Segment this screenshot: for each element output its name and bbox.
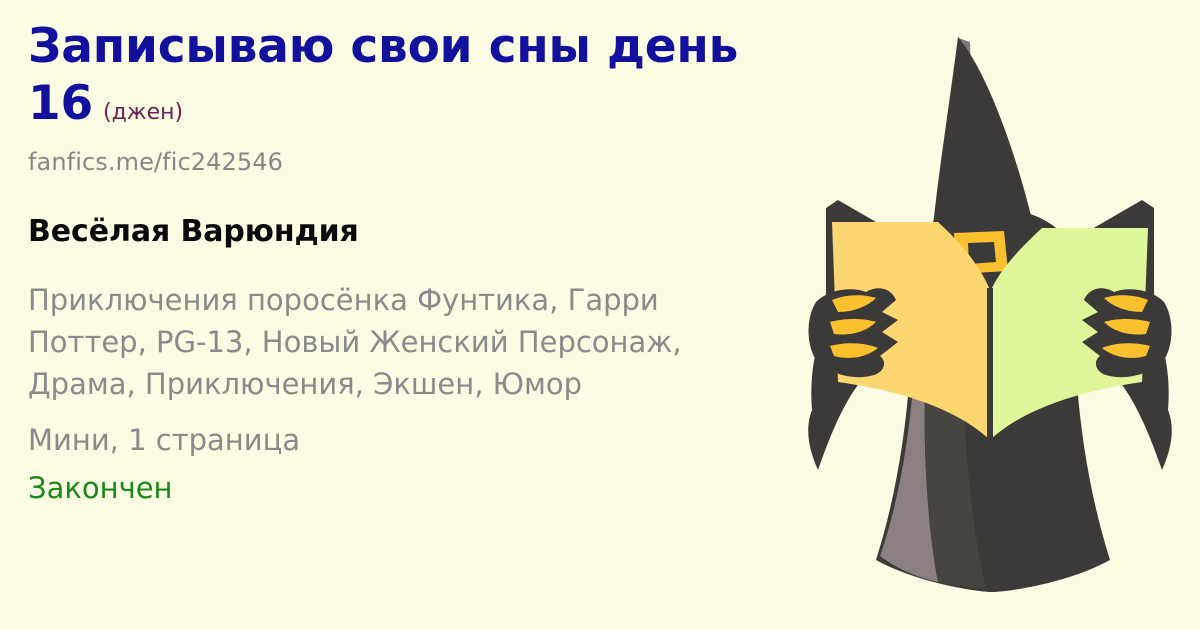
page-title: Записываю свои сны день 16(джен) [28,18,828,141]
wizard-reading-book-illustration [780,0,1200,630]
source-url[interactable]: fanfics.me/fic242546 [28,148,828,176]
fandom-title: Весёлая Варюндия [28,214,828,249]
text-column: Записываю свои сны день 16(джен) fanfics… [28,18,828,509]
book-spine-shape [987,288,993,442]
status-badge: Закончен [28,467,828,509]
size-pages-label: Мини, 1 страница [28,419,828,461]
hat-cone-shape [932,37,1036,236]
tags-list: Приключения поросёнка Фунтика, Гарри Пот… [28,279,768,405]
fanfic-preview-card: Записываю свои сны день 16(джен) fanfics… [0,0,1200,630]
author-label: (джен) [103,100,183,125]
